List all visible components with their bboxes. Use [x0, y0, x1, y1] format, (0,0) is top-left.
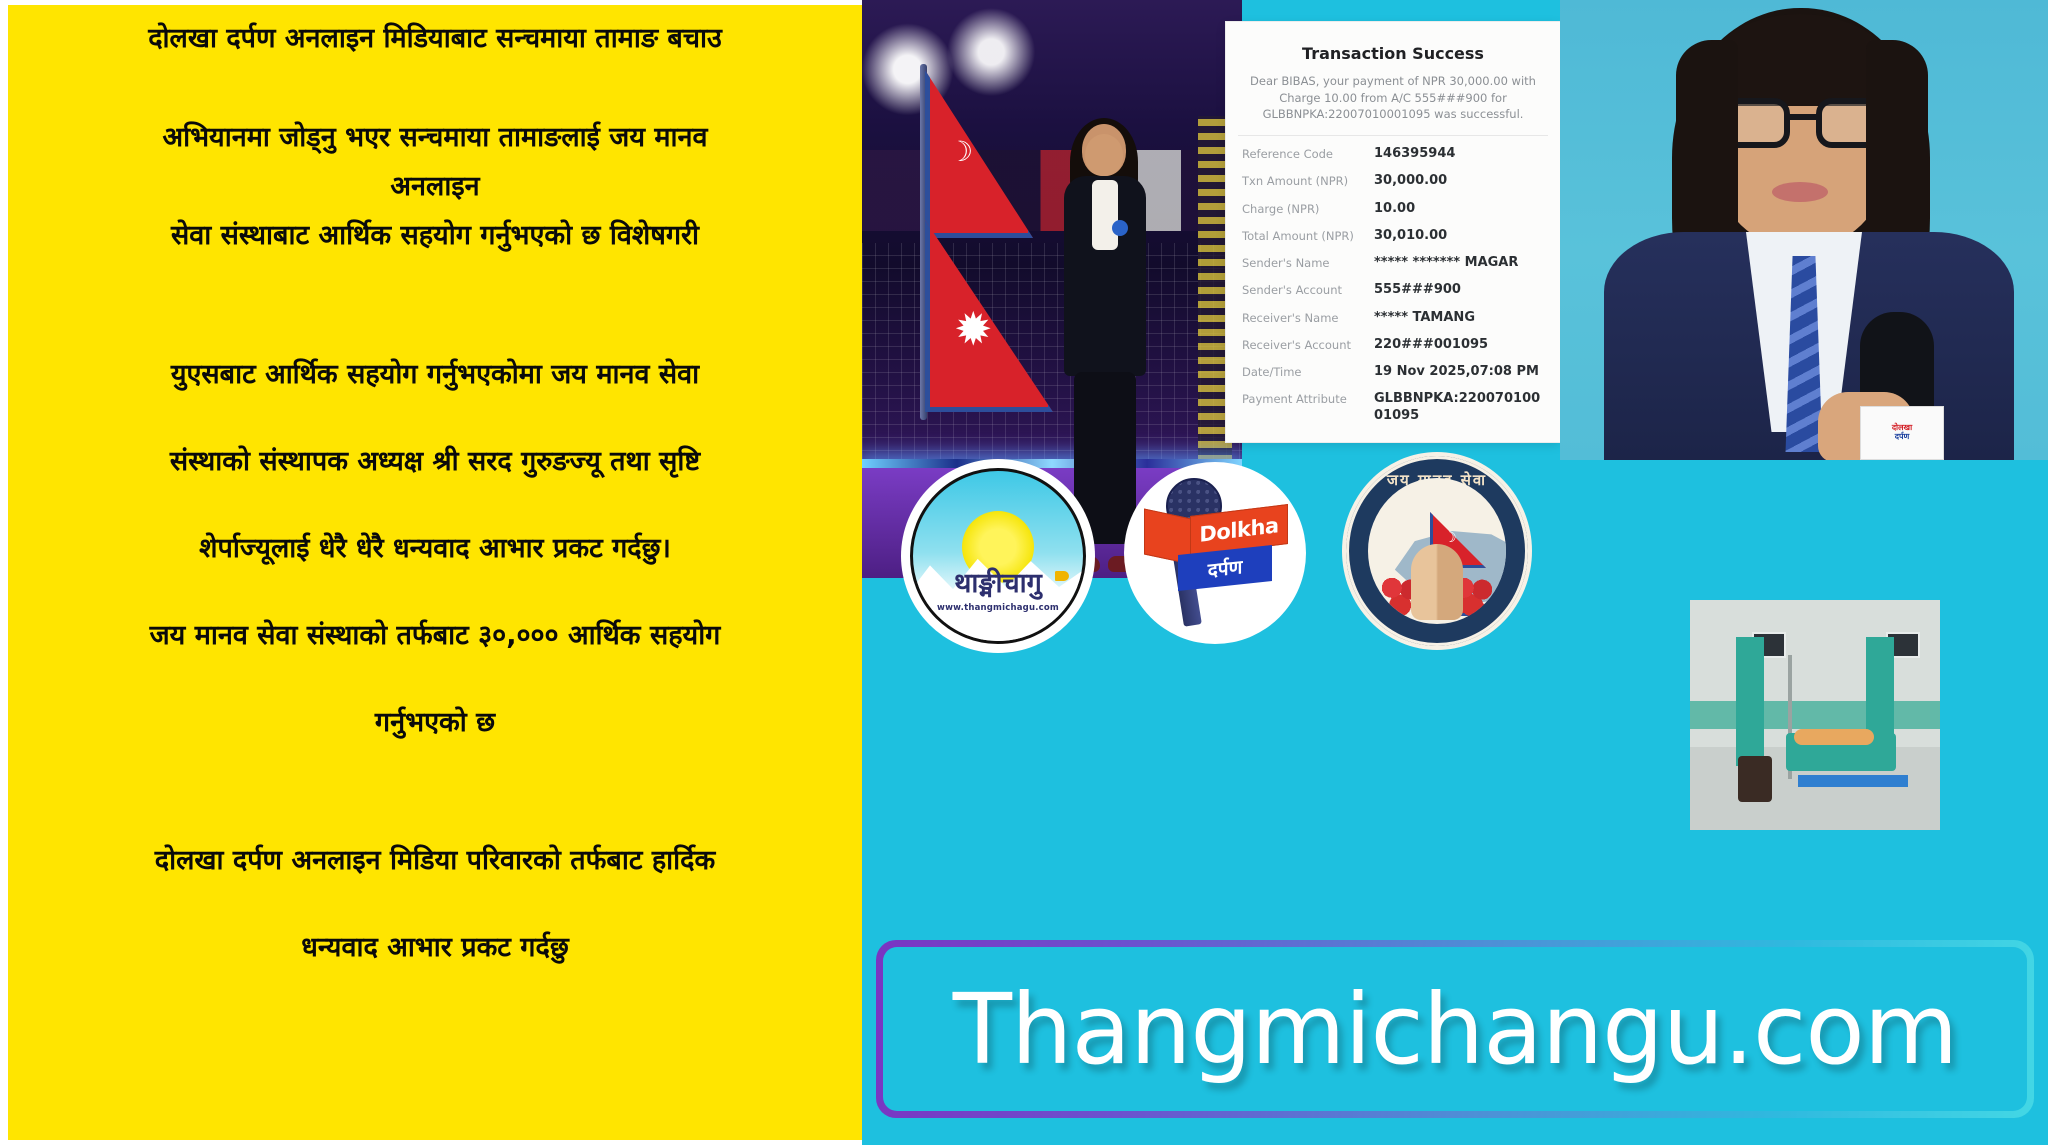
website-banner[interactable]: Thangmichangu.com [876, 940, 2034, 1118]
receipt-value: 10.00 [1374, 201, 1544, 217]
ward-curtain [1736, 637, 1764, 766]
patient-figure [1794, 729, 1874, 745]
receipt-title: Transaction Success [1242, 44, 1544, 63]
flag-moon-icon: ☽ [1444, 530, 1457, 546]
appeal-line-1: दोलखा दर्पण अनलाइन मिडियाबाट सन्चमाया ता… [28, 23, 842, 56]
appeal-line-4: सेवा संस्थाबाट आर्थिक सहयोग गर्नुभएको छ … [28, 220, 842, 253]
bedside-table [1798, 775, 1908, 787]
receipt-label: Receiver's Name [1242, 310, 1374, 326]
receipt-label: Sender's Name [1242, 255, 1374, 271]
appeal-line-7: शेर्पाज्यूलाई धेरै धेरै धन्यवाद आभार प्र… [28, 533, 842, 566]
receipt-value: 19 Nov 2025,07:08 PM [1374, 364, 1544, 380]
receipt-value: GLBBNPKA:22007010001095 [1374, 391, 1544, 424]
glasses-bridge [1790, 114, 1816, 120]
receipt-row: Date/Time 19 Nov 2025,07:08 PM [1242, 364, 1544, 380]
logo-jay-manav-sewa[interactable]: जय मानव सेवा ☽ ✹ [1342, 452, 1532, 650]
transaction-receipt: Transaction Success Dear BIBAS, your pay… [1226, 22, 1560, 442]
face [1085, 134, 1123, 176]
appeal-line-2: अभियानमा जोड्नु भएर सन्चमाया तामाङलाई जय… [28, 122, 842, 155]
reporter-photo: दोलखा दर्पण [1560, 0, 2048, 460]
receipt-value: 30,010.00 [1374, 228, 1544, 244]
mic-flag-line-2: दर्पण [1895, 433, 1910, 442]
receipt-label: Charge (NPR) [1242, 201, 1374, 217]
logo-dolkha-name-np: दर्पण [1208, 553, 1243, 583]
receipt-row: Receiver's Account 220###001095 [1242, 337, 1544, 353]
lapel-badge [1112, 220, 1128, 236]
white-shirt [1092, 180, 1118, 250]
ward-chair [1738, 756, 1772, 802]
receipt-label: Total Amount (NPR) [1242, 228, 1374, 244]
reporter-lips [1772, 182, 1828, 202]
website-banner-text: Thangmichangu.com [953, 973, 1957, 1086]
logo-thangmichangu-name: थाङ्मीचागु [913, 563, 1083, 600]
logo-ring: थाङ्मीचागु www.thangmichagu.com [910, 468, 1086, 644]
receipt-row: Reference Code 146395944 [1242, 146, 1544, 162]
receipt-label: Date/Time [1242, 364, 1374, 380]
receipt-row: Sender's Account 555###900 [1242, 282, 1544, 298]
pen-nib-icon [1055, 571, 1069, 581]
appeal-line-10: दोलखा दर्पण अनलाइन मिडिया परिवारको तर्फब… [28, 845, 842, 878]
flag-moon-icon: ☽ [948, 138, 973, 166]
website-banner-inner: Thangmichangu.com [883, 947, 2027, 1111]
logo-dolkha-darpan[interactable]: Dolkha दर्पण [1124, 462, 1306, 644]
appeal-line-9: गर्नुभएको छ [28, 707, 842, 740]
receipt-value: 555###900 [1374, 282, 1544, 298]
mic-flag-logo: दोलखा दर्पण [1860, 406, 1944, 460]
glasses-icon [1720, 98, 1886, 150]
receipt-row: Receiver's Name ***** TAMANG [1242, 310, 1544, 326]
logo-outer-ring: जय मानव सेवा ☽ ✹ [1346, 456, 1528, 646]
logo-thangmichangu[interactable]: थाङ्मीचागु www.thangmichagu.com [904, 462, 1092, 650]
receipt-divider [1238, 135, 1548, 136]
receipt-value: ***** ******* MAGAR [1374, 255, 1544, 271]
receipt-row: Txn Amount (NPR) 30,000.00 [1242, 173, 1544, 189]
flag-sun-icon: ✹ [954, 306, 993, 352]
namaste-hands-icon [1411, 544, 1463, 620]
appeal-line-5: युएसबाट आर्थिक सहयोग गर्नुभएकोमा जय मानव… [28, 359, 842, 392]
receipt-row: Sender's Name ***** ******* MAGAR [1242, 255, 1544, 271]
receipt-message: Dear BIBAS, your payment of NPR 30,000.0… [1242, 73, 1544, 123]
flag-upper-pennant [925, 70, 1033, 238]
hospital-ward-photo [1690, 600, 1940, 830]
receipt-value: 30,000.00 [1374, 173, 1544, 189]
receipt-label: Sender's Account [1242, 282, 1374, 298]
ward-wall-band [1690, 701, 1940, 729]
appeal-line-6: संस्थाको संस्थापक अध्यक्ष श्री सरद गुरुङ… [28, 446, 842, 479]
receipt-value: ***** TAMANG [1374, 310, 1544, 326]
nepal-flag-icon: ☽ ✹ [918, 70, 1056, 410]
appeal-text-panel: दोलखा दर्पण अनलाइन मिडियाबाट सन्चमाया ता… [8, 5, 862, 1140]
receipt-value: 146395944 [1374, 146, 1544, 162]
receipt-label: Txn Amount (NPR) [1242, 173, 1374, 189]
logo-dolkha-name-en: Dolkha [1199, 513, 1278, 547]
receipt-row: Charge (NPR) 10.00 [1242, 201, 1544, 217]
appeal-line-3: अनलाइन [28, 171, 842, 204]
receipt-row: Total Amount (NPR) 30,010.00 [1242, 228, 1544, 244]
logo-inner-disc: ☽ ✹ [1368, 478, 1506, 624]
receipt-label: Reference Code [1242, 146, 1374, 162]
receipt-label: Receiver's Account [1242, 337, 1374, 353]
receipt-label: Payment Attribute [1242, 391, 1374, 407]
receipt-row: Payment Attribute GLBBNPKA:2200701000109… [1242, 391, 1544, 424]
appeal-line-8: जय मानव सेवा संस्थाको तर्फबाट ३०,००० आर्… [28, 620, 842, 653]
appeal-line-11: धन्यवाद आभार प्रकट गर्दछु [28, 932, 842, 965]
media-panel: ☽ ✹ Transaction Success Dear BIBAS, your… [862, 0, 2048, 1145]
logo-thangmichangu-url: www.thangmichagu.com [913, 603, 1083, 613]
poster-root: दोलखा दर्पण अनलाइन मिडियाबाट सन्चमाया ता… [0, 0, 2048, 1145]
receipt-value: 220###001095 [1374, 337, 1544, 353]
